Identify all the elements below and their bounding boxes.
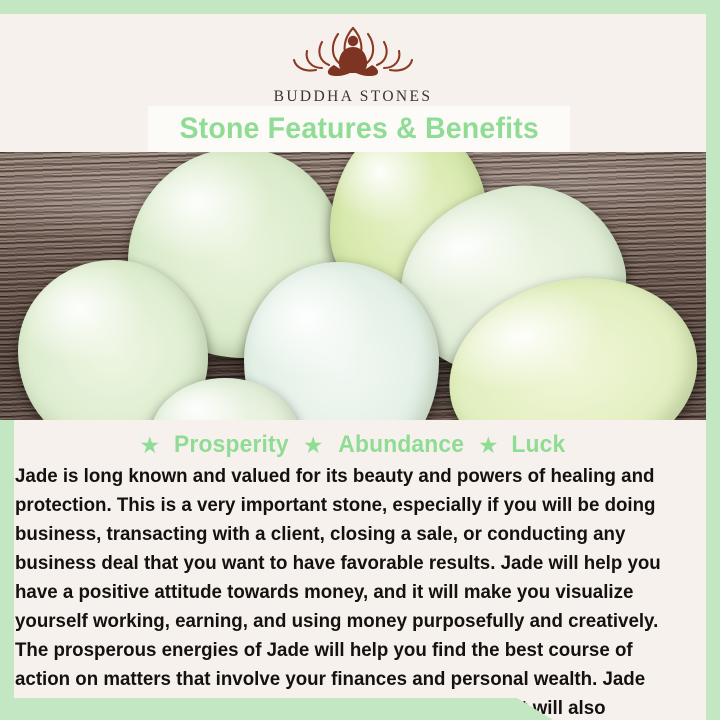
benefits-row: ★ Prosperity ★ Abundance ★ Luck — [0, 428, 706, 462]
title-banner: Stone Features & Benefits — [148, 106, 570, 152]
footer-accent-strip — [0, 698, 553, 720]
description-text: Jade is long known and valued for its be… — [15, 462, 675, 720]
star-icon: ★ — [303, 434, 324, 457]
benefit-abundance: Abundance — [338, 431, 464, 459]
infographic-card: BUDDHA STONES Stone Features & Benefits … — [0, 0, 720, 720]
stone-photo: Jade — [0, 152, 706, 420]
star-icon: ★ — [140, 434, 161, 457]
page-title: Stone Features & Benefits — [179, 112, 539, 146]
brand-name: BUDDHA STONES — [274, 88, 433, 106]
left-frame-edge — [0, 420, 14, 720]
benefit-prosperity: Prosperity — [174, 431, 289, 459]
brand-header: BUDDHA STONES — [0, 14, 706, 108]
lotus-meditation-icon — [278, 18, 428, 80]
star-icon: ★ — [478, 434, 499, 457]
benefit-luck: Luck — [511, 431, 565, 459]
